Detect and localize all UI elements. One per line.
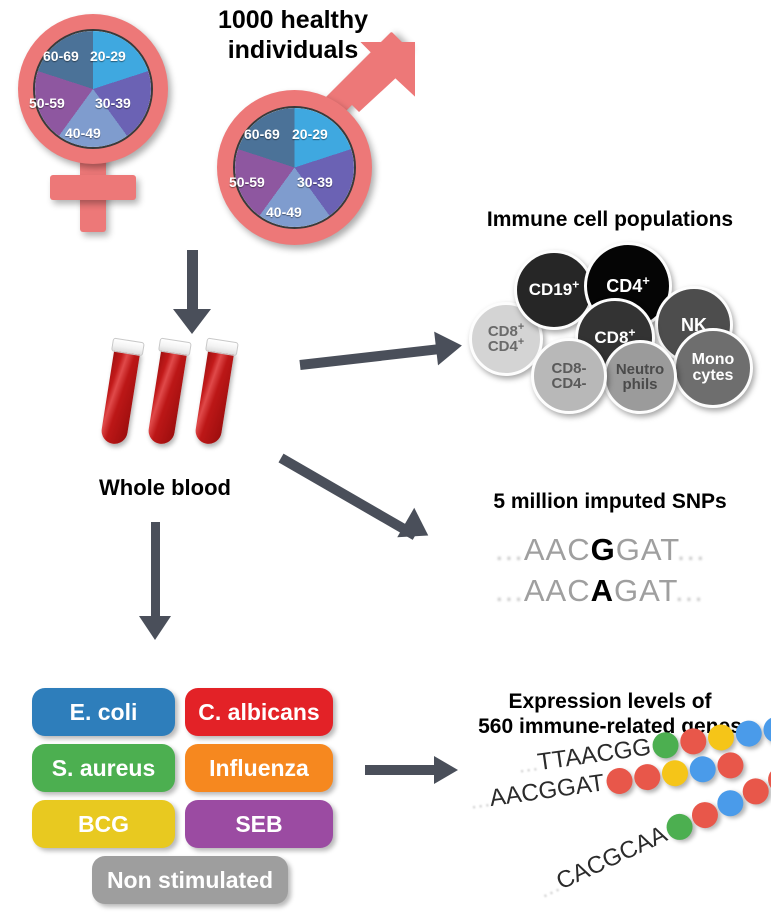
stimulus-c-albicans[interactable]: C. albicans	[185, 688, 333, 736]
female-slice-label-60-69: 60-69	[43, 48, 79, 64]
stimulus-influenza[interactable]: Influenza	[185, 744, 333, 792]
snp-left: AAC	[524, 573, 591, 608]
cell-monocytes: Mono cytes	[673, 328, 753, 408]
snp-variant-a: A	[591, 573, 614, 608]
gene-dot	[679, 727, 708, 756]
gene-dot	[734, 719, 763, 748]
male-gender-symbol: 20-29 30-39 40-49 50-59 60-69	[200, 40, 415, 255]
female-slice-label-50-59: 50-59	[29, 95, 65, 111]
gene-dot	[762, 715, 771, 744]
male-slice-label-20-29: 20-29	[292, 126, 328, 142]
cell-label-cd4: CD4	[606, 276, 642, 296]
blood-tube	[193, 338, 236, 451]
male-slice-label-60-69: 60-69	[244, 126, 280, 142]
snp-variant-g: G	[591, 532, 616, 567]
cell-label-mono-2: cytes	[693, 367, 734, 384]
female-symbol-crossbar	[50, 175, 136, 200]
strand-lead: ...	[516, 749, 540, 780]
gene-dot	[715, 751, 744, 780]
cell-sup-plus: +	[642, 273, 650, 288]
female-slice-label-30-39: 30-39	[95, 95, 131, 111]
strand-lead: ...	[468, 785, 492, 816]
snp-allele-row-1: ...AACGGAT...	[495, 532, 706, 568]
cell-label-dneg-2: CD4-	[551, 375, 586, 392]
cell-label-neutro-2: phils	[622, 376, 657, 393]
blood-tube-body	[100, 347, 141, 446]
cell-label-cd4pos: CD4	[488, 338, 518, 355]
cell-label-cd19: CD19	[529, 280, 572, 299]
snp-prefix: ...	[495, 532, 524, 567]
female-slice-label-20-29: 20-29	[90, 48, 126, 64]
snp-right: GAT	[614, 573, 675, 608]
gene-dot	[651, 731, 680, 760]
blood-tube	[99, 338, 142, 451]
male-slice-label-50-59: 50-59	[229, 174, 265, 190]
female-gender-symbol: 20-29 30-39 40-49 50-59 60-69	[8, 10, 188, 240]
whole-blood-tubes	[100, 340, 260, 460]
snp-suffix: ...	[675, 573, 704, 608]
snp-right: GAT	[616, 532, 677, 567]
gene-dot	[707, 723, 736, 752]
snp-left: AAC	[524, 532, 591, 567]
figure-canvas: 1000 healthy individuals 20-29 30-39 40-…	[0, 0, 771, 922]
snps-title: 5 million imputed SNPs	[460, 490, 760, 515]
stimulus-s-aureus[interactable]: S. aureus	[32, 744, 175, 792]
gene-dot	[632, 762, 661, 791]
cell-neutrophils: Neutro phils	[603, 340, 677, 414]
gene-dot	[688, 755, 717, 784]
cell-label-mono-1: Mono	[692, 351, 735, 368]
immune-cell-cluster: CD8+ CD4+ CD19+ CD4+ NK CD8+ Mono cytes	[455, 240, 765, 420]
stimulus-non-stimulated[interactable]: Non stimulated	[92, 856, 288, 904]
female-slice-label-40-49: 40-49	[65, 125, 101, 141]
blood-tube-body	[194, 347, 235, 446]
snp-prefix: ...	[495, 573, 524, 608]
cell-sup-plus: +	[518, 336, 524, 348]
male-slice-label-40-49: 40-49	[266, 204, 302, 220]
stimulus-e-coli[interactable]: E. coli	[32, 688, 175, 736]
cell-sup-plus: +	[628, 326, 635, 340]
stimulus-seb[interactable]: SEB	[185, 800, 333, 848]
cell-sup-plus: +	[518, 321, 524, 333]
whole-blood-label: Whole blood	[70, 475, 260, 501]
cell-cd8-neg-cd4-neg: CD8- CD4-	[531, 338, 607, 414]
male-slice-label-30-39: 30-39	[297, 174, 333, 190]
cohort-title-line1: 1000 healthy	[178, 6, 408, 36]
blood-tube-body	[147, 347, 188, 446]
gene-dot	[660, 759, 689, 788]
gene-dot	[604, 766, 633, 795]
snp-suffix: ...	[677, 532, 706, 567]
expression-title-line1: Expression levels of	[455, 690, 765, 715]
immune-populations-title: Immune cell populations	[450, 208, 770, 233]
snp-allele-row-2: ...AACAGAT...	[495, 573, 704, 609]
stimulus-bcg[interactable]: BCG	[32, 800, 175, 848]
cell-sup-plus: +	[572, 278, 579, 292]
strand-sequence: CACGCAA	[552, 821, 671, 897]
blood-tube	[146, 338, 189, 451]
